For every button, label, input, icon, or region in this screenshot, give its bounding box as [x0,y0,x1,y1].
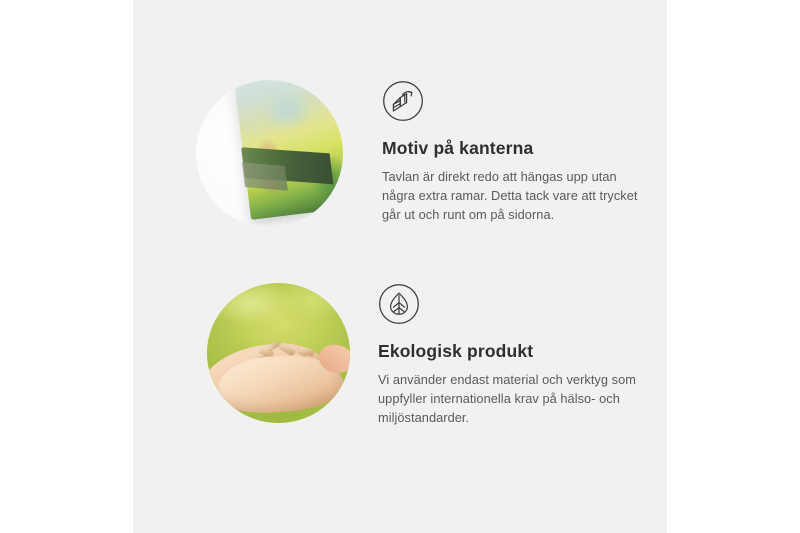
leaf-icon [378,283,420,325]
hands-holding-wood-chips-photo [207,283,350,423]
feature-body-1: Tavlan är direkt redo att hängas upp uta… [382,168,650,225]
product-feature-banner: Motiv på kanterna Tavlan är direkt redo … [0,0,800,533]
feature-body-2: Vi använder endast material och verktyg … [378,371,656,428]
canvas-photo-background [196,80,343,227]
canvas-wrapped-edge-icon [382,80,424,122]
feature-block-motiv-pa-kanterna: Motiv på kanterna Tavlan är direkt redo … [196,80,650,227]
feature-title-1: Motiv på kanterna [382,138,650,159]
canvas-side-edge-highlight [242,163,288,192]
feature-text-column-2: Ekologisk produkt Vi använder endast mat… [378,283,656,428]
canvas-print-block [233,80,343,220]
feature-text-column-1: Motiv på kanterna Tavlan är direkt redo … [382,80,650,225]
feature-block-ekologisk-produkt: Ekologisk produkt Vi använder endast mat… [207,283,656,428]
canvas-print-corner-photo [196,80,343,227]
feature-title-2: Ekologisk produkt [378,341,656,362]
